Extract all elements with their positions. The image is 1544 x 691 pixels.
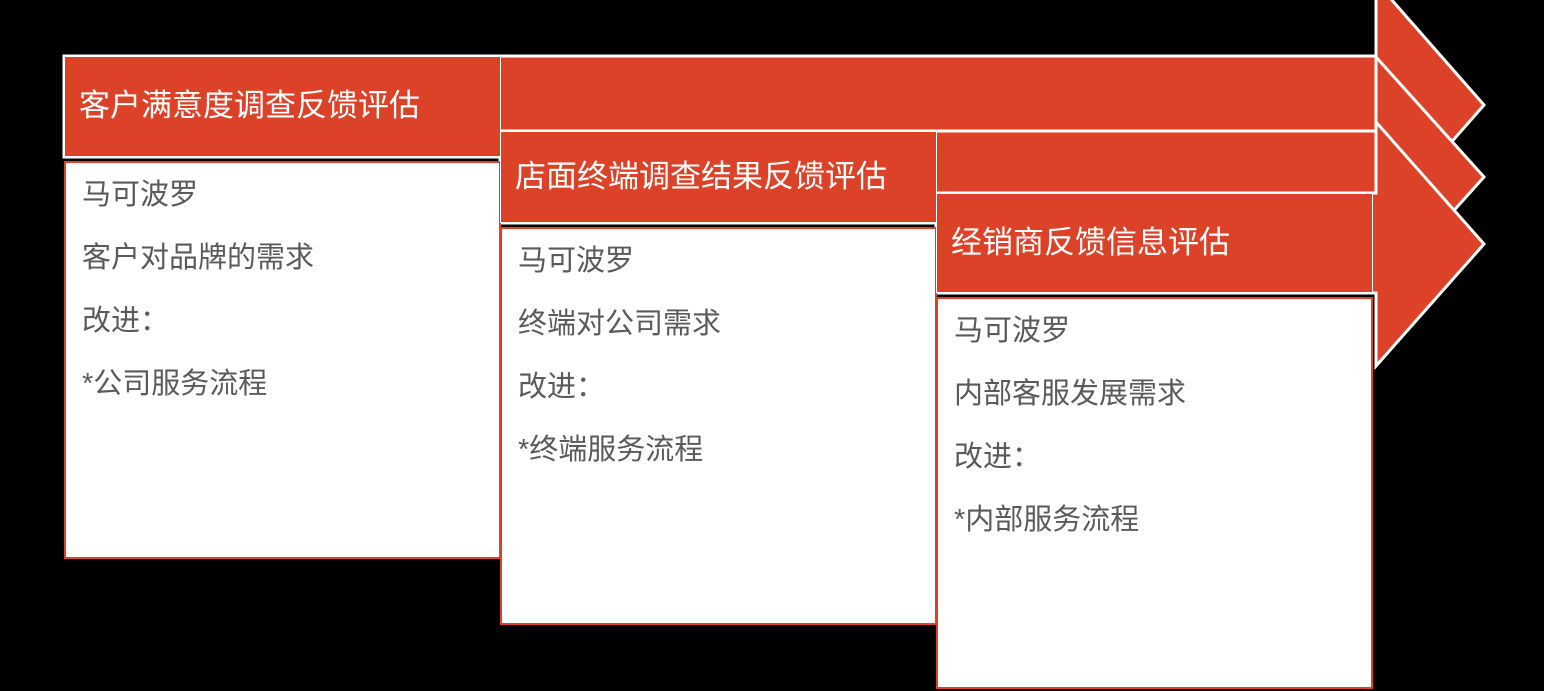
card-2-body: 马可波罗 终端对公司需求 改进： *终端服务流程 bbox=[500, 227, 937, 625]
card-3-line-1: 马可波罗 bbox=[954, 317, 1355, 346]
card-1-line-3: 改进： bbox=[82, 307, 483, 336]
card-2-title: 店面终端调查结果反馈评估 bbox=[515, 160, 887, 194]
card-3-body: 马可波罗 内部客服发展需求 改进： *内部服务流程 bbox=[936, 297, 1373, 689]
card-2-line-2: 终端对公司需求 bbox=[518, 310, 919, 339]
card-2-line-1: 马可波罗 bbox=[518, 247, 919, 276]
card-1-line-1: 马可波罗 bbox=[82, 181, 483, 210]
card-3-title-bar: 经销商反馈信息评估 bbox=[936, 193, 1373, 293]
card-3-title: 经销商反馈信息评估 bbox=[951, 226, 1230, 260]
process-step-card-3[interactable]: 经销商反馈信息评估 马可波罗 内部客服发展需求 改进： *内部服务流程 bbox=[936, 193, 1373, 689]
card-1-body: 马可波罗 客户对品牌的需求 改进： *公司服务流程 bbox=[64, 161, 501, 559]
process-step-card-1[interactable]: 客户满意度调查反馈评估 马可波罗 客户对品牌的需求 改进： *公司服务流程 bbox=[64, 56, 501, 559]
card-1-line-2: 客户对品牌的需求 bbox=[82, 244, 483, 273]
card-2-line-4: *终端服务流程 bbox=[518, 436, 919, 465]
card-2-line-3: 改进： bbox=[518, 373, 919, 402]
card-2-title-bar: 店面终端调查结果反馈评估 bbox=[500, 131, 937, 223]
process-step-card-2[interactable]: 店面终端调查结果反馈评估 马可波罗 终端对公司需求 改进： *终端服务流程 bbox=[500, 131, 937, 625]
card-1-title: 客户满意度调查反馈评估 bbox=[79, 89, 420, 123]
card-1-line-4: *公司服务流程 bbox=[82, 370, 483, 399]
slide-canvas: 客户满意度调查反馈评估 马可波罗 客户对品牌的需求 改进： *公司服务流程 店面… bbox=[0, 0, 1544, 691]
card-1-title-bar: 客户满意度调查反馈评估 bbox=[64, 56, 501, 157]
card-3-line-4: *内部服务流程 bbox=[954, 506, 1355, 535]
card-3-line-2: 内部客服发展需求 bbox=[954, 380, 1355, 409]
card-3-line-3: 改进： bbox=[954, 443, 1355, 472]
